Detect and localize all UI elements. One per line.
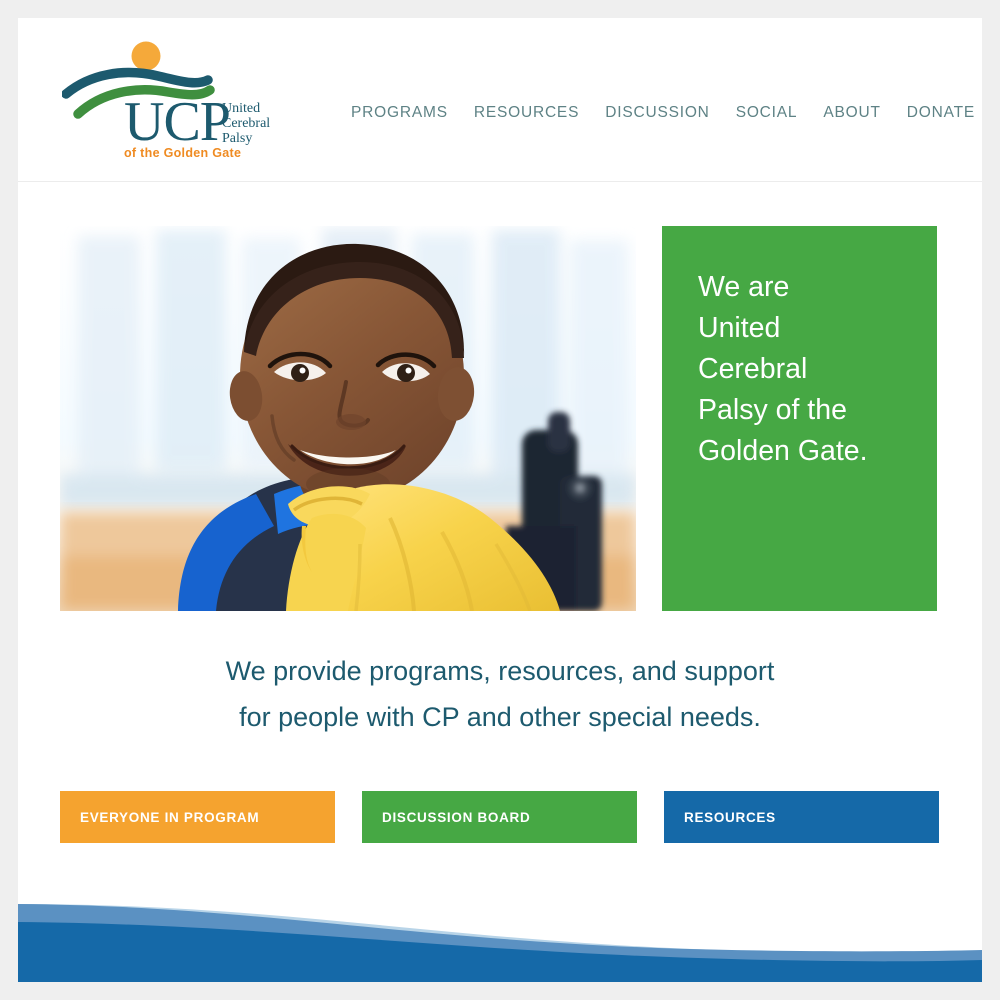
nav-item-about[interactable]: ABOUT xyxy=(810,104,893,122)
ucp-logo[interactable]: UCP United Cerebral Palsy of the Golden … xyxy=(62,40,277,158)
discussion-board-label: DISCUSSION BOARD xyxy=(362,810,530,825)
mission-tagline: We provide programs, resources, and supp… xyxy=(18,648,982,740)
mission-tagline-line-1: We provide programs, resources, and supp… xyxy=(18,648,982,694)
hero-green-panel: We are United Cerebral Palsy of the Gold… xyxy=(662,226,937,611)
logo-tagline: of the Golden Gate xyxy=(124,146,241,158)
nav-item-programs[interactable]: PROGRAMS xyxy=(338,104,461,122)
page-canvas: UCP United Cerebral Palsy of the Golden … xyxy=(18,18,982,982)
hero-section: We are United Cerebral Palsy of the Gold… xyxy=(18,183,982,623)
nav-item-resources[interactable]: RESOURCES xyxy=(461,104,592,122)
logo-name-line2: Cerebral xyxy=(222,116,270,131)
hero-headline-line-2: United xyxy=(698,308,918,349)
everyone-in-program-label: EVERYONE IN PROGRAM xyxy=(60,810,259,825)
everyone-in-program-button[interactable]: EVERYONE IN PROGRAM xyxy=(60,791,335,843)
hero-headline-line-4: Palsy of the xyxy=(698,390,918,431)
resources-button[interactable]: RESOURCES xyxy=(664,791,939,843)
logo-name-line1: United xyxy=(222,101,260,116)
mission-tagline-line-2: for people with CP and other special nee… xyxy=(18,694,982,740)
discussion-board-button[interactable]: DISCUSSION BOARD xyxy=(362,791,637,843)
logo-acronym: UCP xyxy=(124,91,230,153)
footer-wave xyxy=(18,882,982,982)
nav-item-social[interactable]: SOCIAL xyxy=(723,104,811,122)
nav-item-donate[interactable]: DONATE xyxy=(894,104,982,122)
logo-sun-icon xyxy=(132,42,161,71)
main-navigation[interactable]: PROGRAMS RESOURCES DISCUSSION SOCIAL ABO… xyxy=(338,104,982,122)
cta-button-row: EVERYONE IN PROGRAM DISCUSSION BOARD RES… xyxy=(60,791,940,843)
site-header: UCP United Cerebral Palsy of the Golden … xyxy=(18,18,982,182)
logo-name-line3: Palsy xyxy=(222,131,252,146)
nav-item-discussion[interactable]: DISCUSSION xyxy=(592,104,722,122)
hero-headline-line-5: Golden Gate. xyxy=(698,431,918,472)
hero-photo xyxy=(60,226,636,611)
hero-headline: We are United Cerebral Palsy of the Gold… xyxy=(698,267,918,472)
resources-label: RESOURCES xyxy=(664,810,776,825)
hero-headline-line-3: Cerebral xyxy=(698,349,918,390)
hero-headline-line-1: We are xyxy=(698,267,918,308)
